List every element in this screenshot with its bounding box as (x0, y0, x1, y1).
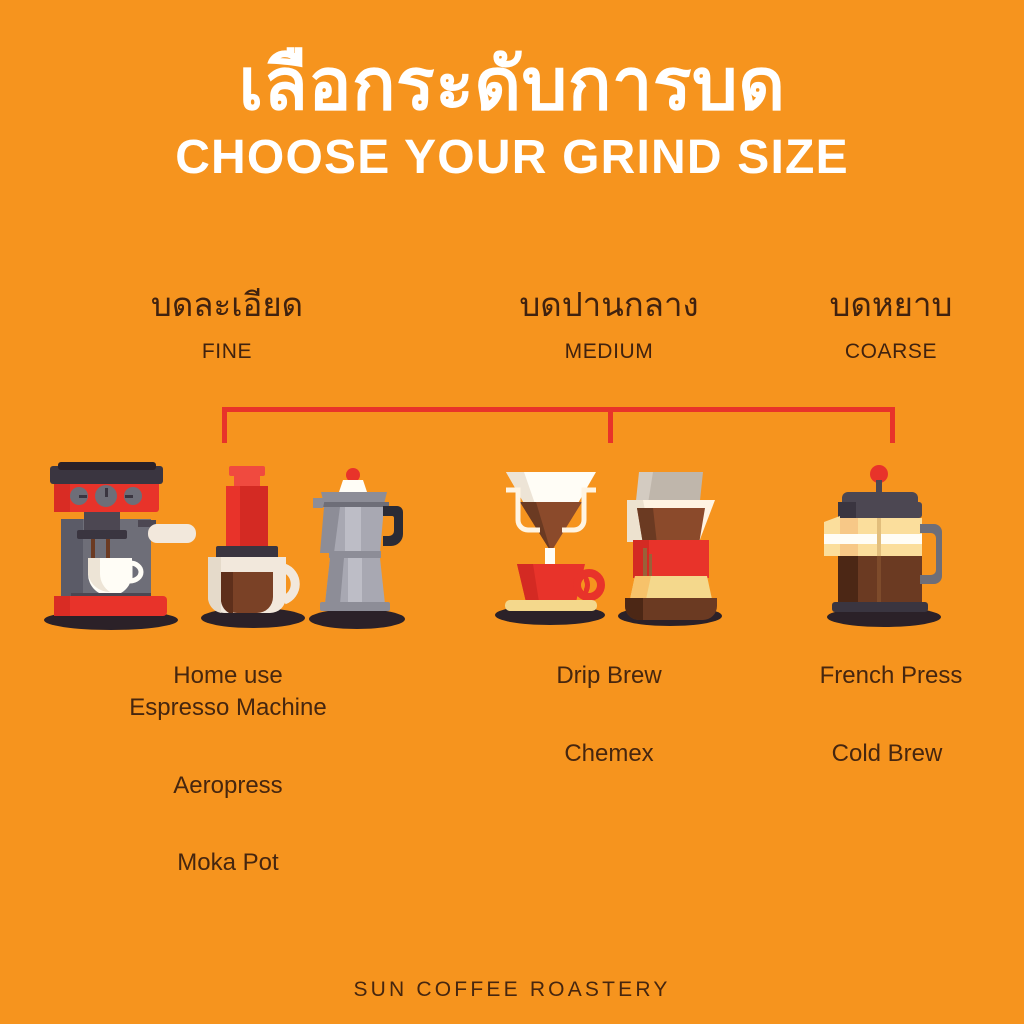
pour-over-svg (492, 462, 612, 632)
aeropress-svg (196, 462, 311, 632)
pour-over-dripper-icon (492, 462, 612, 632)
aeropress-icon (196, 462, 311, 632)
column-heading-medium: บดปานกลาง MEDIUM (474, 286, 744, 364)
label-french-press: French Press (756, 660, 1024, 692)
moka-pot-icon (305, 462, 415, 632)
espresso-machine-icon (36, 462, 196, 632)
heading-english-coarse: COARSE (756, 340, 1024, 364)
label-drip-brew: Drip Brew (474, 660, 744, 692)
chemex-icon (615, 462, 727, 632)
bracket-bar (222, 407, 895, 412)
bracket-tick-middle (608, 407, 613, 443)
heading-thai-medium: บดปานกลาง (474, 286, 744, 324)
label-cold-brew: Cold Brew (752, 738, 1022, 770)
label-aeropress: Aeropress (72, 770, 384, 802)
heading-thai-coarse: บดหยาบ (756, 286, 1024, 324)
label-moka-pot: Moka Pot (72, 847, 384, 879)
page-title-english: CHOOSE YOUR GRIND SIZE (0, 130, 1024, 185)
bracket-tick-right (890, 407, 895, 443)
grind-size-infographic: เลือกระดับการบด CHOOSE YOUR GRIND SIZE บ… (0, 0, 1024, 1024)
french-press-svg (822, 462, 952, 632)
brewer-icons-row (0, 462, 1024, 632)
page-title-thai: เลือกระดับการบด (0, 46, 1024, 124)
column-heading-fine: บดละเอียด FINE (92, 286, 362, 364)
brand-footer: SUN COFFEE ROASTERY (0, 978, 1024, 1002)
grind-scale-bracket (222, 407, 895, 445)
espresso-machine-svg (36, 462, 196, 632)
heading-english-medium: MEDIUM (474, 340, 744, 364)
column-headings: บดละเอียด FINE บดปานกลาง MEDIUM บดหยาบ C… (0, 286, 1024, 386)
label-espresso-machine: Home use Espresso Machine (72, 660, 384, 723)
bracket-tick-left (222, 407, 227, 443)
column-heading-coarse: บดหยาบ COARSE (756, 286, 1024, 364)
heading-thai-fine: บดละเอียด (92, 286, 362, 324)
moka-pot-svg (305, 462, 415, 632)
title-block: เลือกระดับการบด CHOOSE YOUR GRIND SIZE (0, 46, 1024, 185)
chemex-svg (615, 462, 727, 632)
label-chemex: Chemex (474, 738, 744, 770)
french-press-icon (822, 462, 952, 632)
heading-english-fine: FINE (92, 340, 362, 364)
